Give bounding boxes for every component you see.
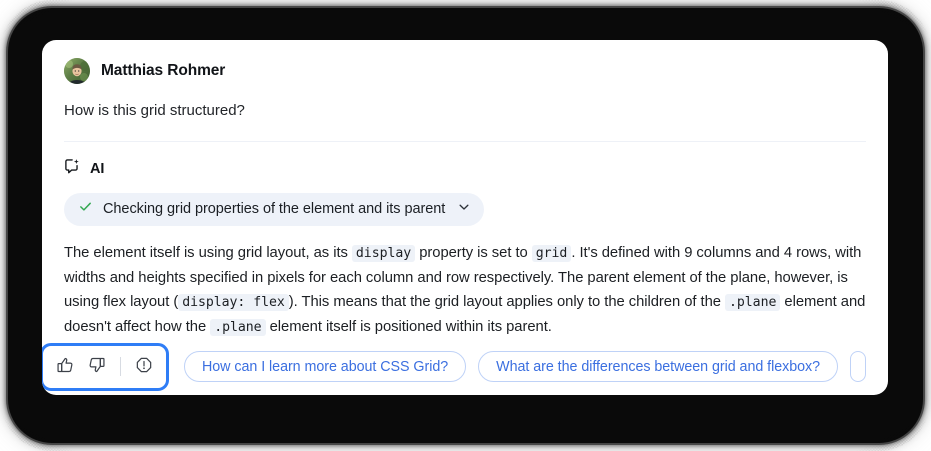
- ai-sparkle-bubble-icon: [64, 158, 81, 180]
- ai-message-header: AI: [64, 159, 866, 179]
- thumbs-up-button[interactable]: [51, 353, 79, 381]
- message-footer: How can I learn more about CSS Grid?What…: [42, 338, 888, 395]
- user-avatar-photo: [64, 58, 90, 84]
- ai-answer-text: The element itself is using grid layout,…: [64, 241, 866, 340]
- user-message-header: Matthias Rohmer: [64, 58, 866, 84]
- inline-code: .plane: [210, 319, 265, 336]
- chat-card: Matthias Rohmer How is this grid structu…: [42, 40, 888, 395]
- toolbar-separator: [120, 357, 121, 376]
- inline-code: display: flex: [178, 294, 289, 311]
- report-issue-icon: [135, 356, 153, 377]
- suggestion-chip[interactable]: How can I learn more about CSS Grid?: [184, 351, 466, 382]
- suggestion-chip-list: How can I learn more about CSS Grid?What…: [184, 351, 888, 382]
- status-pill[interactable]: Checking grid properties of the element …: [64, 193, 484, 226]
- suggestion-chip[interactable]: [850, 351, 866, 382]
- check-icon: [78, 199, 93, 219]
- ai-message: AI Checking grid properties of the eleme…: [42, 142, 888, 340]
- user-message: Matthias Rohmer How is this grid structu…: [42, 40, 888, 122]
- suggestion-chip[interactable]: What are the differences between grid an…: [478, 351, 838, 382]
- thumbs-up-icon: [56, 356, 74, 377]
- inline-code: display: [352, 245, 415, 262]
- screenshot-root: Matthias Rohmer How is this grid structu…: [0, 0, 931, 451]
- report-issue-button[interactable]: [130, 353, 158, 381]
- feedback-toolbar[interactable]: [47, 351, 162, 383]
- chevron-down-icon[interactable]: [457, 200, 471, 219]
- user-name: Matthias Rohmer: [101, 62, 225, 80]
- thumbs-down-icon: [88, 356, 106, 377]
- status-pill-label: Checking grid properties of the element …: [103, 201, 445, 217]
- user-message-text: How is this grid structured?: [64, 100, 866, 122]
- inline-code: .plane: [725, 294, 780, 311]
- ai-label: AI: [90, 161, 104, 177]
- thumbs-down-button[interactable]: [83, 353, 111, 381]
- inline-code: grid: [532, 245, 572, 262]
